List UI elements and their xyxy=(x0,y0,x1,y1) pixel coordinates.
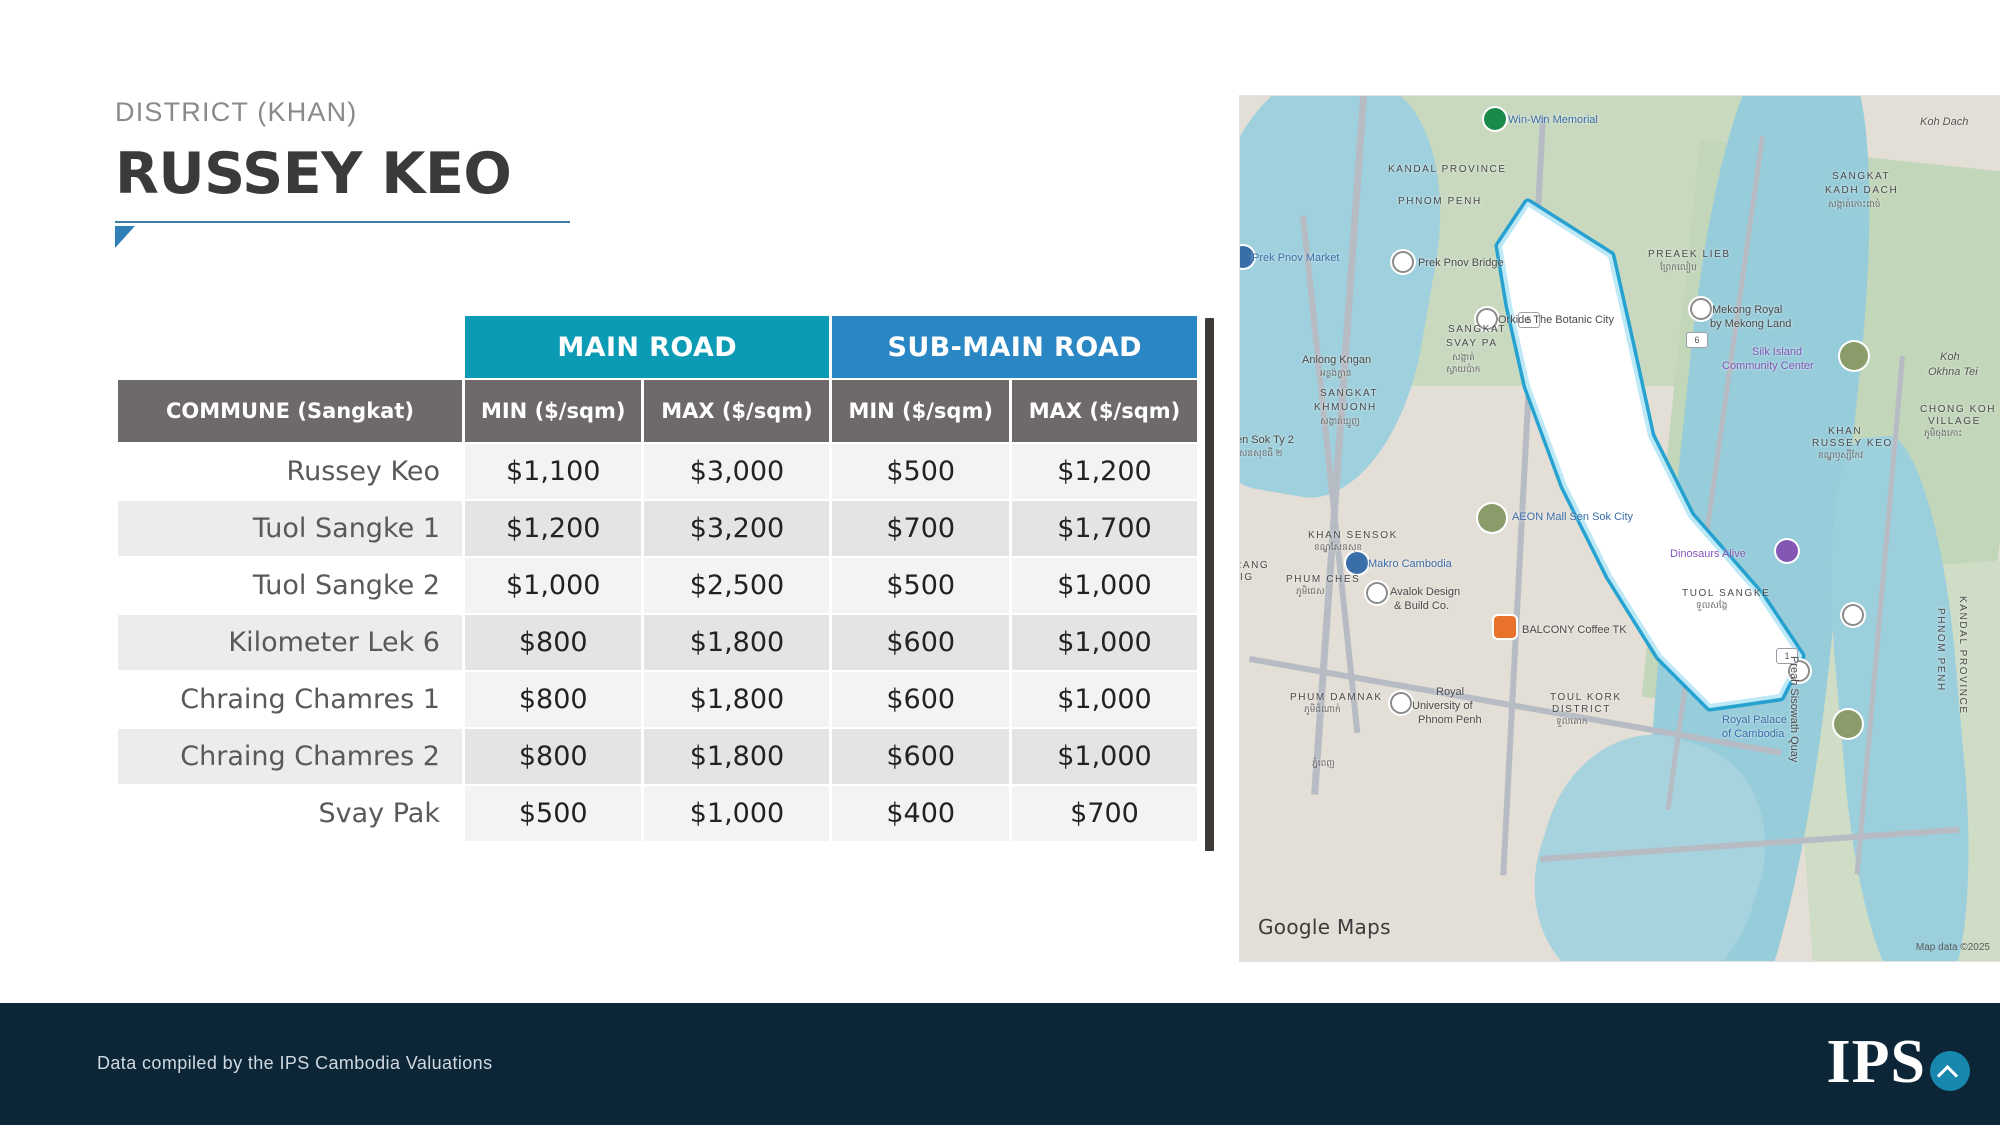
map-label: KHMUONH xyxy=(1314,402,1377,414)
map-label: សែនសុខធី ២ xyxy=(1240,448,1282,458)
cell-sub-max: $1,000 xyxy=(1012,615,1197,670)
map-pin-makro-cambodia[interactable] xyxy=(1346,552,1368,574)
cell-commune: Kilometer Lek 6 xyxy=(118,615,462,670)
map-pin-aeon-mall[interactable] xyxy=(1478,504,1506,532)
map-label: Preah Sisowath Quay xyxy=(1787,656,1800,762)
map-pin-avalok-design[interactable] xyxy=(1366,582,1388,604)
column-header-commune: COMMUNE (Sangkat) xyxy=(118,380,462,442)
map-label: សង្កាត់ xyxy=(1452,352,1475,362)
map-pin-balcony-coffee[interactable] xyxy=(1494,616,1516,638)
map-label: Okhna Tei xyxy=(1928,366,1978,379)
map-label: University of xyxy=(1412,700,1473,713)
cell-main-max: $3,000 xyxy=(644,444,829,499)
map-label: Royal xyxy=(1436,686,1464,699)
map-label: Orkide The Botanic City xyxy=(1498,314,1614,327)
map-label: អន្លង់ក្ងាន xyxy=(1320,368,1351,378)
map-label: KADH DACH xyxy=(1825,185,1898,197)
map-label: VILLAGE xyxy=(1928,416,1981,428)
map-label: ភូមិចុងកោះ xyxy=(1924,428,1962,438)
price-table-wrapper: MAIN ROAD SUB-MAIN ROAD COMMUNE (Sangkat… xyxy=(115,314,1200,843)
map-label: SANGKAT xyxy=(1832,171,1890,183)
column-header-main-max: MAX ($/sqm) xyxy=(644,380,829,442)
map-label: CHONG KOH xyxy=(1920,404,1996,416)
map-label: SANGKAT xyxy=(1320,388,1378,400)
map-label: RUSSEY KEO xyxy=(1812,438,1893,450)
map-label: TOUL KORK xyxy=(1550,692,1622,704)
chevron-up-circle-icon xyxy=(1930,1051,1970,1091)
map-pin-prek-pnov-bridge[interactable] xyxy=(1392,251,1414,273)
map-label: សង្កាត់កោះដាច់ xyxy=(1828,199,1881,209)
footer-credit: Data compiled by the IPS Cambodia Valuat… xyxy=(97,1053,492,1074)
map-label: Avalok Design xyxy=(1390,586,1460,599)
page-title: RUSSEY KEO xyxy=(115,142,585,208)
column-header-sub-min: MIN ($/sqm) xyxy=(832,380,1008,442)
cell-main-min: $1,000 xyxy=(465,558,641,613)
map-pin-roundabout-1[interactable] xyxy=(1842,604,1864,626)
group-header-blank xyxy=(118,316,462,378)
map-canvas: 5 6 1 Win-Win MemorialKoh DachKANDAL PRO… xyxy=(1240,96,2000,961)
cell-commune: Chraing Chamres 2 xyxy=(118,729,462,784)
cell-main-min: $1,200 xyxy=(465,501,641,556)
map-label: សង្កាត់ឃ្មួញ xyxy=(1320,416,1360,426)
cell-main-min: $500 xyxy=(465,786,641,841)
cell-main-max: $3,200 xyxy=(644,501,829,556)
cell-main-max: $1,000 xyxy=(644,786,829,841)
map-pin-dinosaurs-alive[interactable] xyxy=(1776,540,1798,562)
cell-commune: Tuol Sangke 1 xyxy=(118,501,462,556)
map-label: Prek Pnov Bridge xyxy=(1418,257,1504,270)
map-label: en Sok Ty 2 xyxy=(1240,434,1294,447)
table-scrollbar[interactable] xyxy=(1205,318,1214,851)
map-label: Win-Win Memorial xyxy=(1508,114,1598,127)
eyebrow-label: DISTRICT (KHAN) xyxy=(115,98,585,128)
column-header-row: COMMUNE (Sangkat) MIN ($/sqm) MAX ($/sqm… xyxy=(118,380,1197,442)
map-label: of Cambodia xyxy=(1722,728,1784,741)
map-pin-rupp[interactable] xyxy=(1390,692,1412,714)
cell-main-max: $1,800 xyxy=(644,729,829,784)
map-label: & Build Co. xyxy=(1394,600,1449,613)
cell-sub-min: $400 xyxy=(832,786,1008,841)
map-label: Silk Island xyxy=(1752,346,1802,359)
slide: DISTRICT (KHAN) RUSSEY KEO MAIN ROAD SUB… xyxy=(0,0,2000,1125)
cell-main-min: $1,100 xyxy=(465,444,641,499)
map-label: KHAN xyxy=(1828,426,1862,438)
table-row: Chraing Chamres 1$800$1,800$600$1,000 xyxy=(118,672,1197,727)
map-label: Prek Pnov Market xyxy=(1252,252,1339,265)
table-row: Tuol Sangke 1$1,200$3,200$700$1,700 xyxy=(118,501,1197,556)
map-label: ព្រែកលៀប xyxy=(1660,262,1697,272)
map-data-copyright: Map data ©2025 xyxy=(1916,942,1990,953)
cell-commune: Tuol Sangke 2 xyxy=(118,558,462,613)
cell-main-min: $800 xyxy=(465,729,641,784)
table-row: Russey Keo$1,100$3,000$500$1,200 xyxy=(118,444,1197,499)
map-label: IG xyxy=(1240,572,1254,584)
map-label: TUOL SANGKE xyxy=(1682,588,1770,600)
table-body: Russey Keo$1,100$3,000$500$1,200Tuol San… xyxy=(118,444,1197,841)
cell-main-max: $2,500 xyxy=(644,558,829,613)
cell-sub-max: $1,000 xyxy=(1012,729,1197,784)
cell-commune: Svay Pak xyxy=(118,786,462,841)
map-label: ទួលគោក xyxy=(1556,716,1587,726)
map-label: Dinosaurs Alive xyxy=(1670,548,1746,561)
map-label: BALCONY Coffee TK xyxy=(1522,624,1627,637)
map-label: KANDAL PROVINCE xyxy=(1388,164,1507,176)
title-divider xyxy=(115,221,570,223)
price-table: MAIN ROAD SUB-MAIN ROAD COMMUNE (Sangkat… xyxy=(115,314,1200,843)
cell-sub-max: $700 xyxy=(1012,786,1197,841)
cell-commune: Russey Keo xyxy=(118,444,462,499)
cell-sub-min: $600 xyxy=(832,729,1008,784)
map-label: ភូមិដំណាក់ xyxy=(1304,704,1341,714)
map-label: PHNOM PENH xyxy=(1935,608,1947,692)
footer-bar: Data compiled by the IPS Cambodia Valuat… xyxy=(0,1003,2000,1125)
google-maps-attribution: Google Maps xyxy=(1258,915,1391,939)
map-label: SVAY PA xyxy=(1446,338,1498,350)
map-pin-silk-island[interactable] xyxy=(1840,342,1868,370)
group-header-main-road: MAIN ROAD xyxy=(465,316,829,378)
table-head: MAIN ROAD SUB-MAIN ROAD COMMUNE (Sangkat… xyxy=(118,316,1197,442)
table-row: Kilometer Lek 6$800$1,800$600$1,000 xyxy=(118,615,1197,670)
cell-sub-max: $1,000 xyxy=(1012,672,1197,727)
map-label: KHAN SENSOK xyxy=(1308,530,1398,542)
cell-sub-max: $1,700 xyxy=(1012,501,1197,556)
district-boundary-highlight xyxy=(1360,186,1900,756)
map-label: Koh Dach xyxy=(1920,116,1968,129)
map-pin-royal-palace[interactable] xyxy=(1834,710,1862,738)
map-label: by Mekong Land xyxy=(1710,318,1791,331)
column-header-sub-max: MAX ($/sqm) xyxy=(1012,380,1197,442)
map-label: ស្វាយប៉ាក xyxy=(1446,364,1480,374)
table-row: Tuol Sangke 2$1,000$2,500$500$1,000 xyxy=(118,558,1197,613)
map-label: ទួលសង្កែ xyxy=(1696,600,1727,610)
ips-logo: IPS xyxy=(1827,1031,1970,1093)
table-row: Chraing Chamres 2$800$1,800$600$1,000 xyxy=(118,729,1197,784)
map-highway-shield-6: 6 xyxy=(1686,332,1708,348)
map-label: ខណ្ឌឫស្សីកែវ xyxy=(1818,450,1863,460)
map-pin-mekong-royal[interactable] xyxy=(1690,298,1712,320)
map-label: KANDAL PROVINCE xyxy=(1957,596,1969,715)
map-label: PHUM CHES xyxy=(1286,574,1360,586)
map-label: SANGKAT xyxy=(1448,324,1506,336)
map-image[interactable]: 5 6 1 Win-Win MemorialKoh DachKANDAL PRO… xyxy=(1240,96,2000,961)
title-block: DISTRICT (KHAN) RUSSEY KEO xyxy=(115,98,585,207)
map-label: Community Center xyxy=(1722,360,1814,373)
group-header-sub-main-road: SUB-MAIN ROAD xyxy=(832,316,1197,378)
ips-logo-text: IPS xyxy=(1827,1031,1926,1093)
cell-sub-min: $600 xyxy=(832,672,1008,727)
table-row: Svay Pak$500$1,000$400$700 xyxy=(118,786,1197,841)
map-label: Anlong Kngan xyxy=(1302,354,1371,367)
cell-sub-min: $600 xyxy=(832,615,1008,670)
map-pin-win-win-memorial[interactable] xyxy=(1484,108,1506,130)
cell-sub-max: $1,000 xyxy=(1012,558,1197,613)
map-label: PREAEK LIEB xyxy=(1648,249,1731,261)
column-header-main-min: MIN ($/sqm) xyxy=(465,380,641,442)
cell-main-max: $1,800 xyxy=(644,672,829,727)
map-label: Koh xyxy=(1940,351,1960,364)
cell-main-max: $1,800 xyxy=(644,615,829,670)
map-label: RANG xyxy=(1240,560,1269,572)
map-label: Mekong Royal xyxy=(1712,304,1782,317)
map-label: PHUM DAMNAK xyxy=(1290,692,1383,704)
map-label: Phnom Penh xyxy=(1418,714,1482,727)
map-label: Royal Palace xyxy=(1722,714,1787,727)
map-label: AEON Mall Sen Sok City xyxy=(1512,511,1633,524)
triangle-accent-icon xyxy=(115,226,135,248)
group-header-row: MAIN ROAD SUB-MAIN ROAD xyxy=(118,316,1197,378)
cell-commune: Chraing Chamres 1 xyxy=(118,672,462,727)
map-label: ភូមិជេស xyxy=(1296,586,1325,596)
cell-sub-min: $500 xyxy=(832,558,1008,613)
cell-main-min: $800 xyxy=(465,672,641,727)
cell-sub-min: $500 xyxy=(832,444,1008,499)
cell-main-min: $800 xyxy=(465,615,641,670)
map-label: ភ្នំពេញ xyxy=(1312,758,1335,768)
map-label: PHNOM PENH xyxy=(1398,196,1482,208)
map-label: ខណ្ឌសែនសុខ xyxy=(1314,542,1362,552)
district-polygon-svg xyxy=(1360,186,1900,756)
map-label: Makro Cambodia xyxy=(1368,558,1452,571)
map-label: DISTRICT xyxy=(1552,704,1611,716)
cell-sub-min: $700 xyxy=(832,501,1008,556)
cell-sub-max: $1,200 xyxy=(1012,444,1197,499)
